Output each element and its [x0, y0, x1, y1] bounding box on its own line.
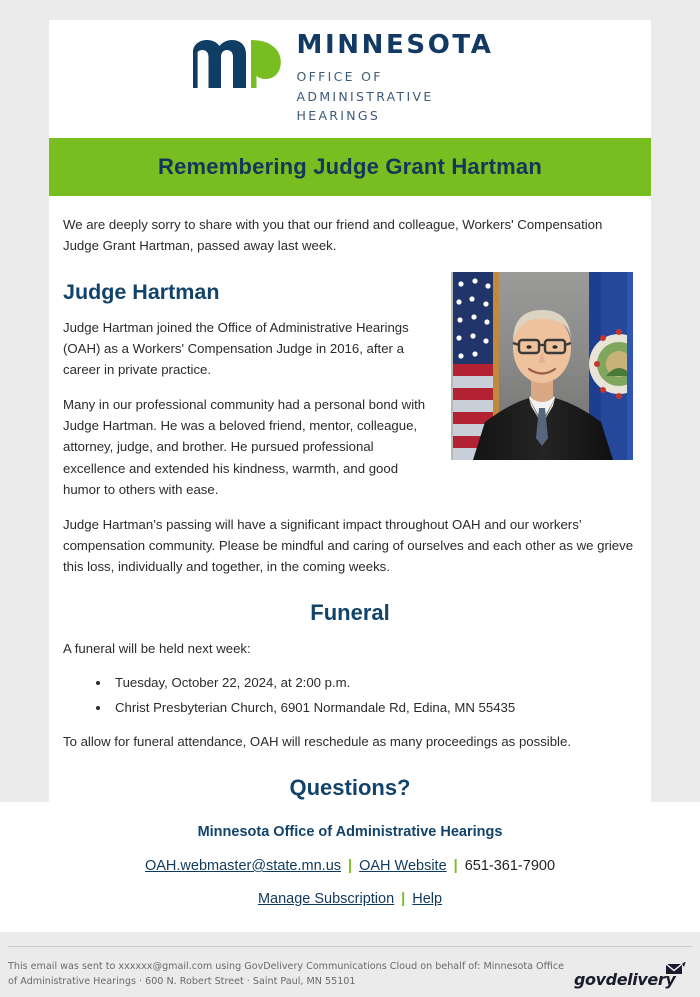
headline-title: Remembering Judge Grant Hartman [158, 154, 542, 180]
footer-contact-row: OAH.webmaster@state.mn.us|OAH Website|65… [0, 858, 700, 874]
email-card: MINNESOTA OFFICE OF ADMINISTRATIVE HEARI… [49, 20, 651, 871]
footer-separator: | [394, 891, 412, 907]
funeral-details-list: Tuesday, October 22, 2024, at 2:00 p.m. … [63, 672, 637, 718]
logo-agency-name: OFFICE OF ADMINISTRATIVE HEARINGS [297, 67, 494, 125]
funeral-intro: A funeral will be held next week: [63, 638, 637, 659]
footer-org-name: Minnesota Office of Administrative Heari… [0, 824, 700, 840]
list-item: Tuesday, October 22, 2024, at 2:00 p.m. [111, 672, 637, 693]
impact-paragraph: Judge Hartman’s passing will have a sign… [63, 514, 637, 578]
logo-agency-line-1: OFFICE OF [297, 67, 494, 86]
manage-subscription-link[interactable]: Manage Subscription [258, 891, 394, 907]
footer-website-link[interactable]: OAH Website [359, 858, 447, 874]
footer-subscription-row: Manage Subscription|Help [0, 891, 700, 907]
disclaimer-divider [8, 946, 692, 947]
judge-section: Judge Hartman Judge Hartman joined the O… [63, 270, 637, 514]
headline-banner: Remembering Judge Grant Hartman [49, 138, 651, 196]
logo-wordmark: MINNESOTA OFFICE OF ADMINISTRATIVE HEARI… [297, 32, 494, 125]
footer-separator: | [447, 858, 465, 874]
mn-logo-icon [191, 32, 283, 92]
footer-separator: | [341, 858, 359, 874]
logo-agency-line-3: HEARINGS [297, 106, 494, 125]
govdelivery-logo: govdelivery [574, 962, 686, 992]
funeral-heading: Funeral [63, 600, 637, 626]
footer-phone: 651-361-7900 [465, 858, 555, 874]
footer-email-link[interactable]: OAH.webmaster@state.mn.us [145, 858, 341, 874]
email-body: We are deeply sorry to share with you th… [49, 196, 651, 871]
funeral-note: To allow for funeral attendance, OAH wil… [63, 731, 637, 752]
logo-agency-line-2: ADMINISTRATIVE [297, 87, 494, 106]
help-link[interactable]: Help [412, 891, 442, 907]
disclaimer-text: This email was sent to xxxxxx@gmail.com … [8, 960, 568, 989]
questions-heading: Questions? [63, 775, 637, 801]
logo-state-name: MINNESOTA [297, 32, 494, 58]
logo-header: MINNESOTA OFFICE OF ADMINISTRATIVE HEARI… [49, 20, 651, 138]
email-page: MINNESOTA OFFICE OF ADMINISTRATIVE HEARI… [0, 0, 700, 997]
contact-footer: Minnesota Office of Administrative Heari… [0, 802, 700, 932]
svg-text:govdelivery: govdelivery [574, 970, 676, 989]
state-logo: MINNESOTA OFFICE OF ADMINISTRATIVE HEARI… [191, 32, 494, 125]
intro-paragraph: We are deeply sorry to share with you th… [63, 214, 637, 257]
list-item: Christ Presbyterian Church, 6901 Normand… [111, 697, 637, 718]
judge-portrait-photo [451, 272, 633, 460]
